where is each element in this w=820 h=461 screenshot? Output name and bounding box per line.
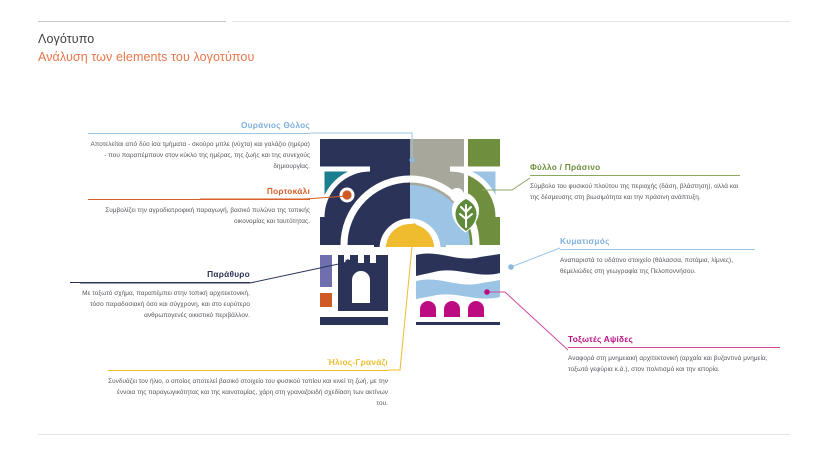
navy-baseline-left xyxy=(320,317,388,325)
purple-bar xyxy=(320,255,332,287)
orange-dot xyxy=(342,190,351,199)
callout-arches-title: Τοξωτές Αψίδες xyxy=(568,335,780,344)
callout-sun-gear-title: Ήλιος-Γρανάζι xyxy=(108,358,388,367)
callout-sky-dome-title: Ουράνιος Θόλος xyxy=(88,121,310,130)
callout-leaf-title: Φύλλο / Πράσινο xyxy=(530,163,740,172)
callout-leaf-body: Σύμβολο του φυσικού πλούτου της περιοχής… xyxy=(530,181,740,203)
navy-tower-group xyxy=(338,255,388,311)
callout-sun-gear-underline xyxy=(108,370,388,371)
callout-wave-underline xyxy=(560,249,755,250)
callout-sky-dome: Ουράνιος Θόλος Αποτελείται από δύο ίσα τ… xyxy=(88,121,310,172)
callout-arches: Τοξωτές Αψίδες Αναφορά στη μνημειακή αρχ… xyxy=(568,335,780,375)
page-subtitle: Ανάλυση των elements του λογοτύπου xyxy=(38,50,254,64)
callout-arches-underline xyxy=(568,347,780,348)
callout-orange-title: Πορτοκάλι xyxy=(88,187,310,196)
navy-wave xyxy=(416,253,500,276)
callout-window-underline xyxy=(70,282,250,283)
callout-window-title: Παράθυρο xyxy=(70,270,250,279)
callout-sky-dome-underline xyxy=(88,133,310,134)
white-arched-window xyxy=(352,271,370,303)
callout-leaf: Φύλλο / Πράσινο Σύμβολο του φυσικού πλού… xyxy=(530,163,740,203)
callout-sky-dome-body: Αποτελείται από δύο ίσα τμήματα - σκούρο… xyxy=(88,139,310,172)
dome-gap xyxy=(316,247,504,253)
callout-orange: Πορτοκάλι Συμβολίζει την αγροδιατροφική … xyxy=(88,187,310,227)
header-rule-right xyxy=(232,21,790,22)
connector-wave-dot xyxy=(508,264,514,270)
callout-wave-title: Κυματισμός xyxy=(560,237,755,246)
callout-sun-gear: Ήλιος-Γρανάζι Συνδυάζει τον ήλιο, ο οποί… xyxy=(108,358,388,409)
navy-baseline-right xyxy=(416,322,500,325)
slide-canvas: Λογότυπο Ανάλυση των elements του λογοτύ… xyxy=(0,0,820,461)
magenta-arches xyxy=(420,301,484,317)
page-title: Λογότυπο xyxy=(38,32,94,46)
callout-wave-body: Αναπαριστά το υδάτινο στοιχείο (θάλασσα,… xyxy=(560,255,755,277)
footer-rule xyxy=(38,434,790,435)
callout-orange-underline xyxy=(88,199,310,200)
callout-wave: Κυματισμός Αναπαριστά το υδάτινο στοιχεί… xyxy=(560,237,755,277)
callout-window-body: Με τοξωτό σχήμα, παραπέμπει στην τοπική … xyxy=(70,288,250,321)
lightblue-wave xyxy=(416,279,500,299)
callout-sun-gear-body: Συνδυάζει τον ήλιο, ο οποίος αποτελεί βα… xyxy=(108,376,388,409)
callout-leaf-underline xyxy=(530,175,740,176)
connector-wave xyxy=(511,248,560,267)
callout-window: Παράθυρο Με τοξωτό σχήμα, παραπέμπει στη… xyxy=(70,270,250,321)
orange-square xyxy=(320,293,332,307)
callout-arches-body: Αναφορά στη μνημειακή αρχιτεκτονική (αρχ… xyxy=(568,353,780,375)
header-rule-left xyxy=(38,21,226,22)
logo-artwork xyxy=(316,137,504,325)
callout-orange-body: Συμβολίζει την αγροδιατροφική παραγωγή, … xyxy=(88,205,310,227)
